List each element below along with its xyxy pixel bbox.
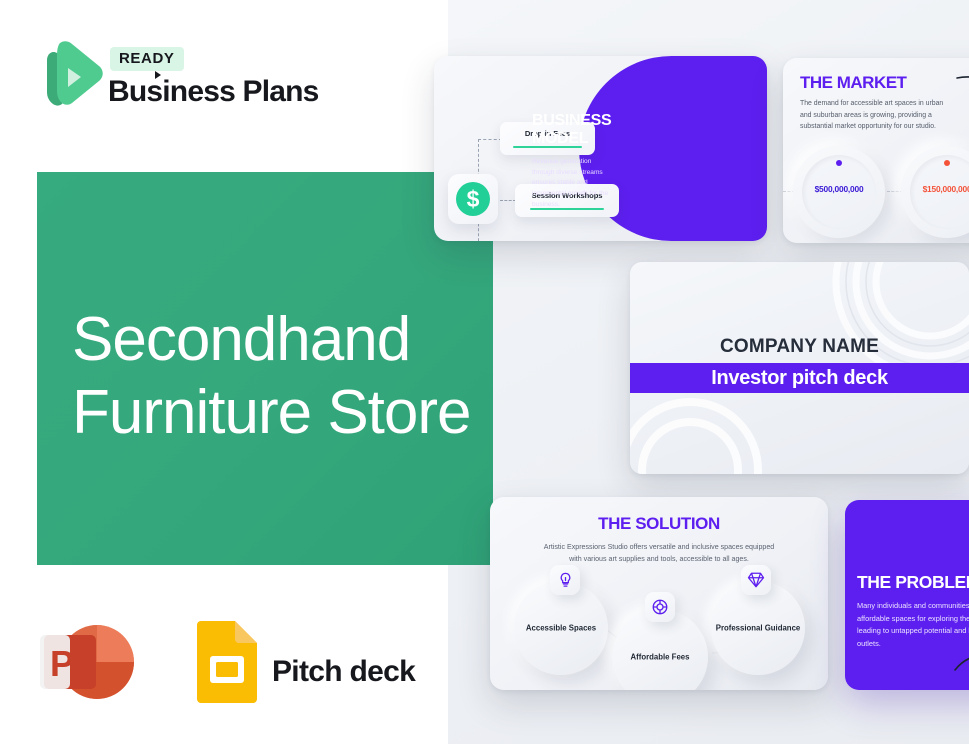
- solution-node-label: Affordable Fees: [612, 651, 708, 662]
- format-label: Pitch deck: [272, 655, 415, 689]
- problem-description: Many individuals and communities lack ac…: [857, 600, 969, 651]
- dollar-tile: $: [448, 174, 498, 224]
- metric-caption: Serviceable Addressable Market (SAM): [893, 242, 969, 243]
- svg-text:P: P: [50, 643, 74, 684]
- solution-bubble: Professional Guidance: [711, 581, 805, 675]
- solution-node[interactable]: Affordable Fees: [612, 609, 708, 690]
- business-model-description: Revenue generation through diverse strea…: [532, 157, 614, 210]
- company-subtitle-band: Investor pitch deck: [630, 363, 969, 393]
- page-title: Secondhand Furniture Store: [72, 303, 492, 449]
- solution-node[interactable]: Professional Guidance: [711, 581, 805, 675]
- market-metric[interactable]: $150,000,000 Serviceable Addressable Mar…: [901, 146, 969, 238]
- curved-arrow-icon: [955, 72, 969, 114]
- lightbulb-icon: [550, 565, 580, 595]
- problem-swoosh-icon: [953, 648, 969, 678]
- brand-wordmark: Business Plans: [108, 75, 319, 109]
- connector-line-top: [478, 139, 502, 140]
- company-name-title: COMPANY NAME: [630, 336, 969, 358]
- market-description: The demand for accessible art spaces in …: [800, 98, 952, 133]
- problem-title: THE PROBLEM: [857, 572, 969, 593]
- solution-node[interactable]: Accessible Spaces: [514, 581, 608, 675]
- business-model-title: BUSINESS MODEL: [532, 112, 620, 148]
- company-subtitle: Investor pitch deck: [630, 363, 969, 393]
- slide-card-solution[interactable]: THE SOLUTION Artistic Expressions Studio…: [490, 497, 828, 690]
- page-title-line-2: Furniture Store: [72, 376, 492, 449]
- slide-card-business-model[interactable]: Drop-in Fees Session Workshops Commissio…: [434, 56, 767, 241]
- slide-card-problem[interactable]: THE PROBLEM Many individuals and communi…: [845, 500, 969, 690]
- format-row: P Pitch deck: [40, 616, 440, 708]
- metric-dot: [944, 160, 950, 166]
- play-tick-icon: [155, 71, 161, 79]
- slide-card-market[interactable]: THE MARKET The demand for accessible art…: [783, 58, 969, 243]
- market-metric[interactable]: $500,000,000 Total Addressable Market (T…: [793, 146, 885, 238]
- solution-node-label: Professional Guidance: [711, 622, 805, 633]
- metric-value: $150,000,000: [901, 184, 969, 194]
- metric-value: $500,000,000: [793, 184, 885, 194]
- ready-badge: READY: [110, 47, 184, 71]
- metric-caption: Total Addressable Market (TAM): [785, 242, 893, 243]
- diamond-icon: [741, 565, 771, 595]
- page-title-line-1: Secondhand: [72, 303, 492, 376]
- solution-node-label: Accessible Spaces: [514, 622, 608, 633]
- poster-canvas: READY Business Plans Secondhand Furnitur…: [0, 0, 969, 744]
- connector-line-mid: [500, 200, 516, 201]
- dollar-circle-icon: $: [456, 182, 490, 216]
- solution-bubble: Accessible Spaces: [514, 581, 608, 675]
- slide-card-company-title[interactable]: COMPANY NAME Investor pitch deck: [630, 262, 969, 474]
- brand-logo[interactable]: READY Business Plans: [38, 36, 358, 120]
- brand-wordmark-text: Business Plans: [108, 75, 319, 108]
- lifebuoy-icon: [645, 592, 675, 622]
- powerpoint-icon: P: [40, 616, 136, 708]
- market-title: THE MARKET: [800, 73, 906, 93]
- metric-dot: [836, 160, 842, 166]
- google-slides-icon: [197, 621, 257, 703]
- play-triangle-logo-icon: [38, 38, 104, 116]
